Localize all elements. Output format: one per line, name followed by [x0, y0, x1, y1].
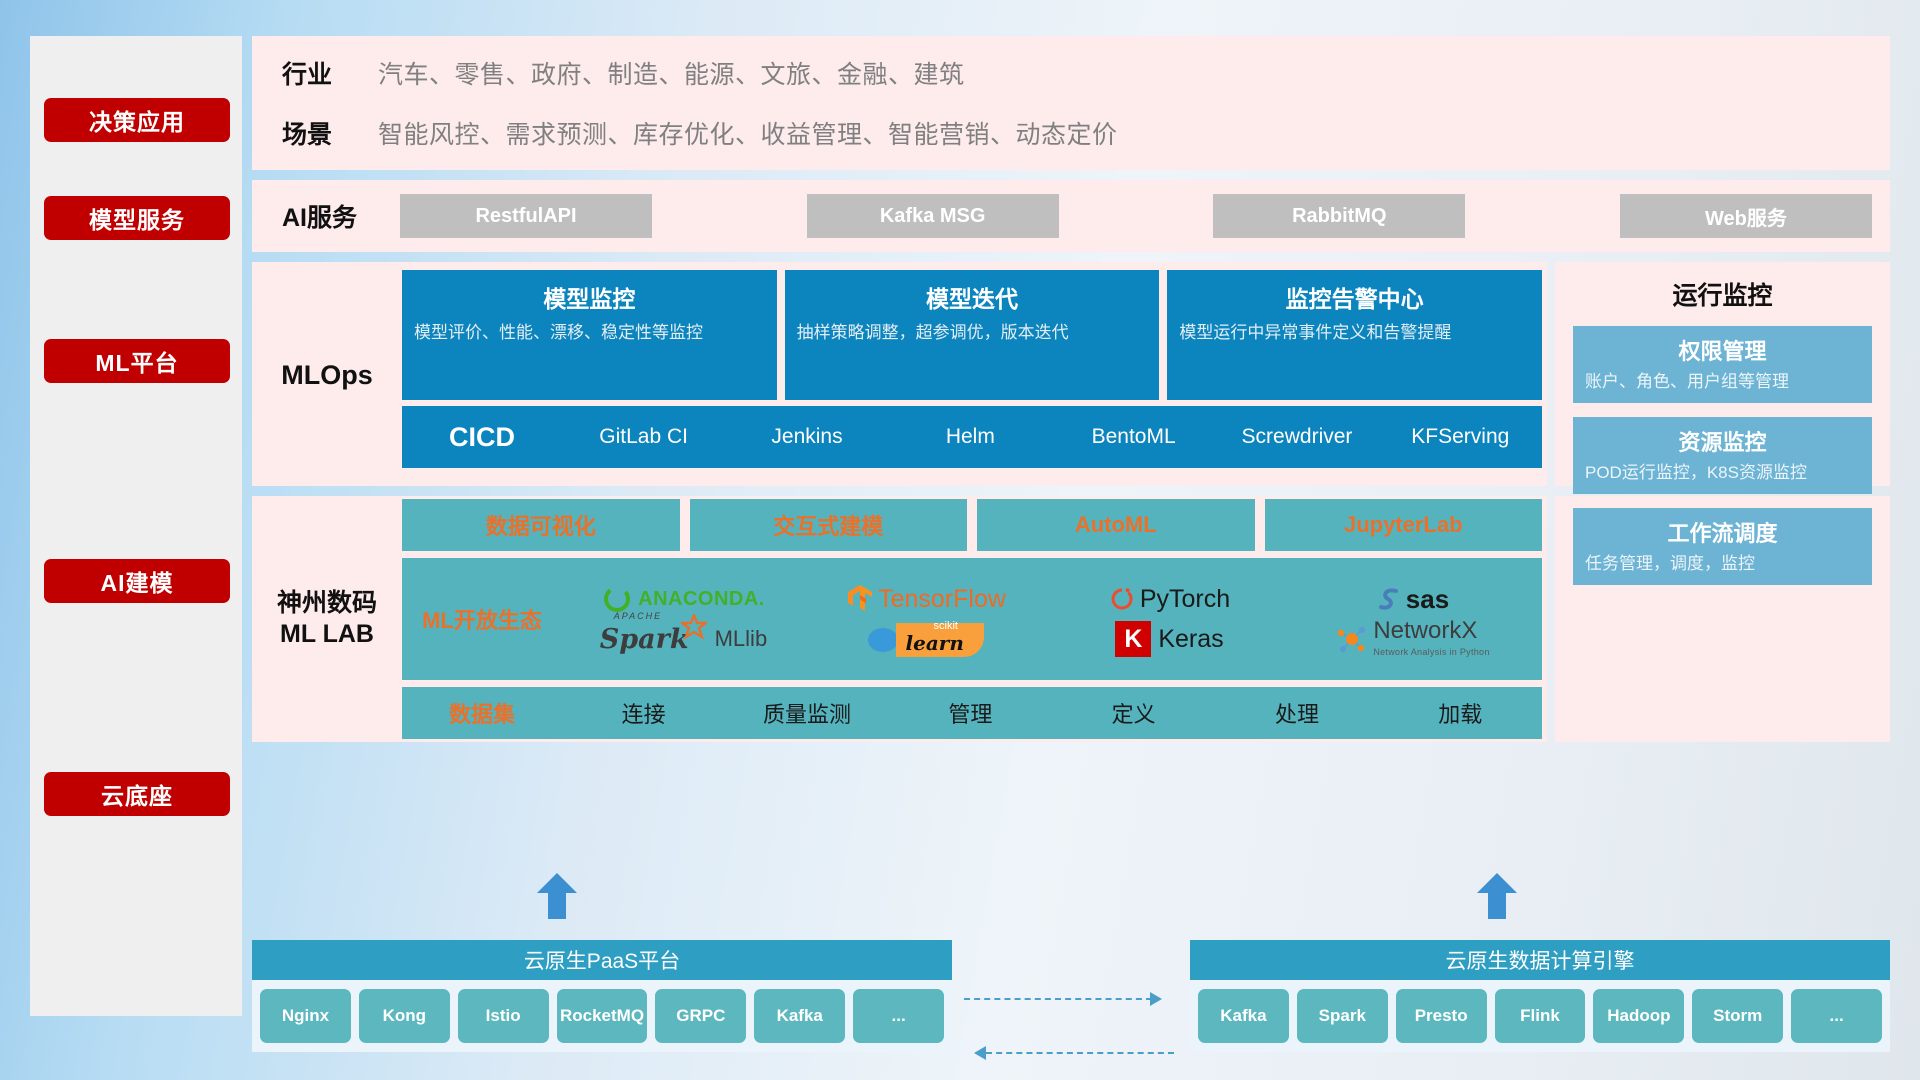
card-title: 工作流调度 [1585, 516, 1860, 548]
dataset-item-load[interactable]: 加载 [1379, 697, 1542, 729]
paas-chip-more[interactable]: ... [853, 989, 944, 1043]
cicd-item-gitlab-ci[interactable]: GitLab CI [562, 424, 725, 450]
compute-chip-flink[interactable]: Flink [1495, 989, 1586, 1043]
paas-chip-nginx[interactable]: Nginx [260, 989, 351, 1043]
card-title: 模型迭代 [797, 280, 1148, 314]
dataset-row: 数据集 连接 质量监测 管理 定义 处理 加载 [402, 687, 1542, 739]
rail-item-decision-app[interactable]: 决策应用 [44, 98, 230, 142]
tab-jupyterlab[interactable]: JupyterLab [1265, 499, 1543, 551]
mlops-card-model-iteration[interactable]: 模型迭代 抽样策略调整，超参调优，版本迭代 [785, 270, 1160, 400]
architecture-main: 行业 汽车、零售、政府、制造、能源、文旅、金融、建筑 场景 智能风控、需求预测、… [252, 36, 1890, 742]
compute-chip-hadoop[interactable]: Hadoop [1593, 989, 1684, 1043]
pytorch-logo: PyTorch [1109, 584, 1230, 614]
card-desc: 模型运行中异常事件定义和告警提醒 [1179, 322, 1530, 345]
card-desc: 抽样策略调整，超参调优，版本迭代 [797, 322, 1148, 345]
arrow-left [964, 1052, 1174, 1054]
networkx-logo: NetworkX Network Analysis in Python [1335, 619, 1489, 659]
paas-block: 云原生PaaS平台 Nginx Kong Istio RocketMQ GRPC… [252, 940, 952, 1052]
column-spacer [1547, 262, 1555, 486]
band-gap [252, 170, 1890, 180]
card-title: 权限管理 [1585, 334, 1860, 366]
paas-chip-rocketmq[interactable]: RocketMQ [557, 989, 648, 1043]
rail-item-ai-modeling[interactable]: AI建模 [44, 559, 230, 603]
paas-chip-istio[interactable]: Istio [458, 989, 549, 1043]
ml-lab-label-line1: 神州数码 [277, 589, 377, 617]
scenario-text: 智能风控、需求预测、库存优化、收益管理、智能营销、动态定价 [378, 115, 1118, 151]
ml-lab-label: 神州数码 ML LAB [252, 588, 402, 651]
mlops-label: MLOps [252, 270, 402, 480]
card-desc: 模型评价、性能、漂移、稳定性等监控 [414, 322, 765, 345]
layer-rail: 决策应用 模型服务 ML平台 AI建模 云底座 [30, 36, 242, 1016]
cicd-label: CICD [402, 422, 562, 453]
cicd-item-kfserving[interactable]: KFServing [1379, 424, 1542, 450]
ml-lab-area: 神州数码 ML LAB 数据可视化 交互式建模 AutoML JupyterLa… [252, 496, 1547, 742]
dataset-item-quality[interactable]: 质量监测 [725, 697, 888, 729]
cicd-item-jenkins[interactable]: Jenkins [725, 424, 888, 450]
dataset-item-define[interactable]: 定义 [1052, 697, 1215, 729]
keras-logo: K Keras [1115, 621, 1223, 657]
decision-app-band: 行业 汽车、零售、政府、制造、能源、文旅、金融、建筑 场景 智能风控、需求预测、… [252, 36, 1890, 170]
ai-service-label: AI服务 [282, 198, 400, 234]
anaconda-logo: ANACONDA. [602, 584, 765, 614]
compute-chip-spark[interactable]: Spark [1297, 989, 1388, 1043]
card-title: 模型监控 [414, 280, 765, 314]
ml-platform-band: MLOps 模型监控 模型评价、性能、漂移、稳定性等监控 模型迭代 抽样策略调整… [252, 262, 1890, 486]
ml-lab-label-line2: ML LAB [280, 620, 374, 648]
industry-label: 行业 [282, 55, 378, 91]
scenario-row: 场景 智能风控、需求预测、库存优化、收益管理、智能营销、动态定价 [282, 115, 1118, 151]
up-arrow-compute [1477, 873, 1517, 919]
column-spacer [1547, 496, 1555, 742]
monitor-card-resource[interactable]: 资源监控 POD运行监控，K8S资源监控 [1573, 417, 1872, 494]
service-chip-restfulapi[interactable]: RestfulAPI [400, 194, 652, 238]
monitor-card-workflow[interactable]: 工作流调度 任务管理，调度，监控 [1573, 508, 1872, 585]
runtime-monitor-panel: 运行监控 权限管理 账户、角色、用户组等管理 资源监控 POD运行监控，K8S资… [1555, 262, 1890, 486]
compute-chip-presto[interactable]: Presto [1396, 989, 1487, 1043]
industry-row: 行业 汽车、零售、政府、制造、能源、文旅、金融、建筑 [282, 55, 1118, 91]
cicd-item-screwdriver[interactable]: Screwdriver [1215, 424, 1378, 450]
ml-ecosystem-label: ML开放生态 [402, 603, 562, 635]
up-arrow-paas [537, 873, 577, 919]
arrow-right [964, 998, 1174, 1000]
tensorflow-logo: TensorFlow [847, 584, 1006, 614]
service-chip-kafka-msg[interactable]: Kafka MSG [807, 194, 1059, 238]
industry-text: 汽车、零售、政府、制造、能源、文旅、金融、建筑 [378, 55, 965, 91]
card-title: 监控告警中心 [1179, 280, 1530, 314]
sas-logo: sas [1376, 584, 1449, 615]
cicd-item-helm[interactable]: Helm [889, 424, 1052, 450]
paas-chip-grpc[interactable]: GRPC [655, 989, 746, 1043]
mlops-card-model-monitor[interactable]: 模型监控 模型评价、性能、漂移、稳定性等监控 [402, 270, 777, 400]
model-service-band: AI服务 RestfulAPI Kafka MSG RabbitMQ Web服务 [252, 180, 1890, 252]
compute-chip-more[interactable]: ... [1791, 989, 1882, 1043]
compute-title: 云原生数据计算引擎 [1190, 940, 1890, 980]
card-title: 资源监控 [1585, 425, 1860, 457]
cloud-foundation-row: 云原生PaaS平台 Nginx Kong Istio RocketMQ GRPC… [252, 905, 1890, 1080]
card-desc: 账户、角色、用户组等管理 [1585, 371, 1860, 393]
dataset-item-manage[interactable]: 管理 [889, 697, 1052, 729]
dataset-label: 数据集 [402, 697, 562, 729]
paas-chip-kong[interactable]: Kong [359, 989, 450, 1043]
dataset-item-process[interactable]: 处理 [1215, 697, 1378, 729]
scenario-label: 场景 [282, 115, 378, 151]
ml-ecosystem-row: ML开放生态 ANACONDA. [402, 558, 1542, 680]
paas-title: 云原生PaaS平台 [252, 940, 952, 980]
mlops-area: MLOps 模型监控 模型评价、性能、漂移、稳定性等监控 模型迭代 抽样策略调整… [252, 262, 1547, 486]
card-desc: POD运行监控，K8S资源监控 [1585, 462, 1860, 484]
tab-automl[interactable]: AutoML [977, 499, 1255, 551]
tab-data-visualization[interactable]: 数据可视化 [402, 499, 680, 551]
rail-item-ml-platform[interactable]: ML平台 [44, 339, 230, 383]
scikit-learn-logo: scikit learn [866, 619, 988, 659]
service-chip-rabbitmq[interactable]: RabbitMQ [1213, 194, 1465, 238]
band-gap [252, 252, 1890, 262]
cicd-item-bentoml[interactable]: BentoML [1052, 424, 1215, 450]
spark-mllib-logo: APACHE Spark MLlib [600, 624, 767, 655]
cicd-row: CICD GitLab CI Jenkins Helm BentoML Scre… [402, 406, 1542, 468]
monitor-card-permission[interactable]: 权限管理 账户、角色、用户组等管理 [1573, 326, 1872, 403]
compute-chip-storm[interactable]: Storm [1692, 989, 1783, 1043]
card-desc: 任务管理，调度，监控 [1585, 553, 1860, 575]
tab-interactive-modeling[interactable]: 交互式建模 [690, 499, 968, 551]
mlops-card-alert-center[interactable]: 监控告警中心 模型运行中异常事件定义和告警提醒 [1167, 270, 1542, 400]
compute-chip-kafka[interactable]: Kafka [1198, 989, 1289, 1043]
rail-item-cloud-base[interactable]: 云底座 [44, 772, 230, 816]
rail-item-model-service[interactable]: 模型服务 [44, 196, 230, 240]
service-chip-web[interactable]: Web服务 [1620, 194, 1872, 238]
monitor-title: 运行监控 [1555, 262, 1890, 312]
compute-engine-block: 云原生数据计算引擎 Kafka Spark Presto Flink Hadoo… [1190, 940, 1890, 1052]
paas-chip-kafka[interactable]: Kafka [754, 989, 845, 1043]
dataset-item-connect[interactable]: 连接 [562, 697, 725, 729]
